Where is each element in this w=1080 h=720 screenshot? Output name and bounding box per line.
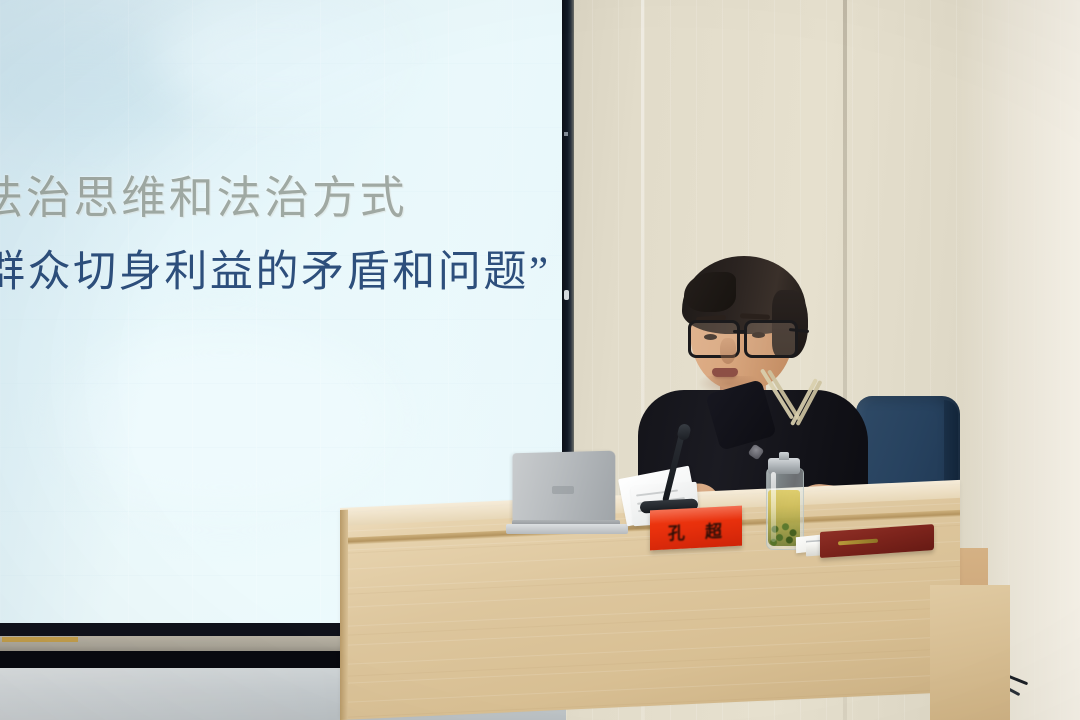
- glasses-icon: [686, 320, 798, 354]
- photo-scene: 法治思维和法治方式 群众切身利益的矛盾和问题”: [0, 0, 1080, 720]
- glasses-lens: [744, 320, 798, 358]
- bottle-cap-knob: [779, 452, 789, 460]
- screen-frame-marking: [2, 637, 78, 642]
- screen-edge-glint: [564, 132, 568, 136]
- hair-fringe: [684, 272, 736, 312]
- tea-bottle: [766, 452, 802, 548]
- bottle-highlight: [771, 472, 776, 542]
- slide-headline-line-1: 法治思维和法治方式: [0, 176, 407, 221]
- screen-edge-glint: [564, 290, 569, 300]
- laptop[interactable]: [510, 452, 624, 528]
- laptop-base: [506, 524, 628, 534]
- nose: [720, 338, 736, 364]
- glasses-bridge: [733, 330, 746, 333]
- laptop-logo: [552, 486, 574, 494]
- slide-headline-line-2: 群众切身利益的矛盾和问题”: [0, 251, 551, 294]
- podium-left-edge: [340, 510, 348, 720]
- podium-right-panel: [930, 585, 1010, 720]
